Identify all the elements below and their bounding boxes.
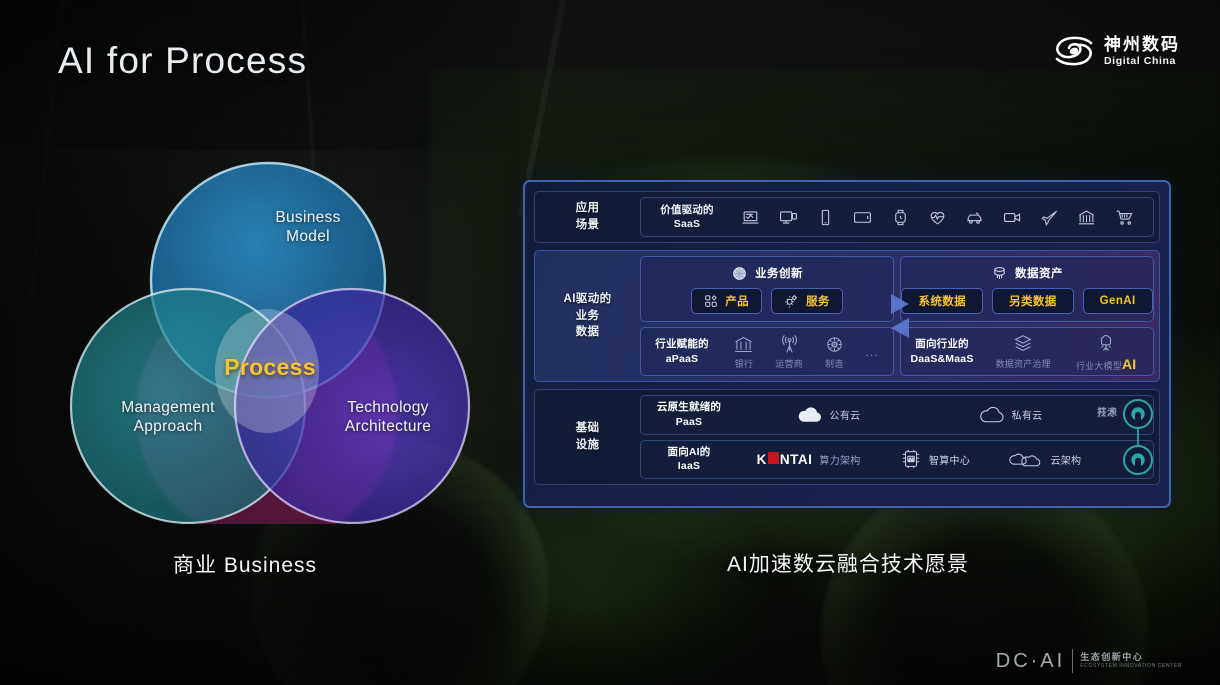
video-camera-icon[interactable]	[1003, 208, 1022, 227]
footer-center-cn: 生态创新中心	[1080, 652, 1182, 662]
row-cloud-native-paas[interactable]: 云原生就绪的 PaaS 公有云 私有云 开源	[640, 395, 1154, 435]
laptop-icon[interactable]	[741, 208, 760, 227]
bank-icon	[733, 334, 754, 355]
data-assets-pills: 系统数据 另类数据 GenAI	[901, 288, 1152, 314]
footer-center-en: ECOSYSTEM INNOVATION CENTER	[1080, 664, 1182, 670]
tablet-icon[interactable]	[853, 208, 872, 227]
item-ai-computing-center-label: 智算中心	[929, 452, 970, 467]
item-computing-power[interactable]: KNTAI 算力架构	[757, 452, 861, 467]
shopping-cart-icon[interactable]	[1115, 208, 1134, 227]
pill-product-label: 产品	[725, 293, 749, 309]
openeuler-badge-opensource[interactable]	[1123, 399, 1153, 429]
footer-dcai-mark: DC·AI	[996, 650, 1065, 673]
pill-service-label: 服务	[806, 293, 830, 309]
architecture-panel: 应用 场景 价值驱动的 SaaS	[523, 180, 1171, 508]
pill-alternative-data-label: 另类数据	[1009, 293, 1057, 309]
item-manufacturing-label: 制造	[825, 357, 843, 370]
item-cloud-architecture-label: 云架构	[1050, 452, 1081, 467]
card-title-value-driven-saas: 价值驱动的 SaaS	[651, 203, 723, 231]
brain-network-icon	[1095, 332, 1117, 354]
item-private-cloud[interactable]: 私有云	[978, 405, 1043, 425]
band-label-ai-driven-business-data: AI驱动的 业务 数据	[535, 251, 640, 381]
caption-tech-vision: AI加速数云融合技术愿景	[727, 548, 969, 578]
item-industry-large-model[interactable]: 行业大模型AI	[1076, 332, 1136, 372]
band-label-infrastructure: 基础 设施	[535, 390, 640, 484]
database-icon	[991, 265, 1008, 282]
item-ai-computing-center[interactable]: AI 智算中心	[900, 448, 970, 470]
item-data-governance[interactable]: 数据资产治理	[996, 333, 1051, 370]
pill-system-data[interactable]: 系统数据	[901, 288, 983, 314]
item-private-cloud-label: 私有云	[1012, 407, 1043, 422]
openeuler-badge-technology[interactable]	[1123, 445, 1153, 475]
item-telecom[interactable]: 运营商	[775, 334, 803, 370]
kuntai-logo-text: KNTAI	[757, 452, 813, 467]
openeuler-icon	[1129, 451, 1147, 469]
smartwatch-icon[interactable]	[891, 208, 910, 227]
brand-logo: 神州数码 Digital China	[1053, 34, 1180, 68]
blocks-icon	[704, 294, 718, 308]
data-layers-icon	[1012, 333, 1034, 355]
business-innovation-pills: 产品 服务	[691, 288, 843, 314]
box-data-assets[interactable]: 数据资产 系统数据 另类数据 GenAI	[900, 256, 1154, 322]
column-data-assets: 数据资产 系统数据 另类数据 GenAI	[900, 256, 1154, 376]
industry-apaas-title: 行业赋能的 aPaaS	[641, 337, 723, 366]
brand-name-cn: 神州数码	[1104, 36, 1180, 53]
box-business-innovation[interactable]: 业务创新 产品 服务	[640, 256, 894, 322]
footer-watermark: DC·AI 生态创新中心 ECOSYSTEM INNOVATION CENTER	[996, 649, 1182, 673]
multi-cloud-icon	[1009, 449, 1043, 469]
paas-title: 云原生就绪的 PaaS	[641, 400, 737, 429]
page-title: AI for Process	[58, 40, 307, 82]
airplane-icon[interactable]	[1040, 208, 1059, 227]
item-industry-large-model-label: 行业大模型AI	[1076, 356, 1136, 372]
iaas-title: 面向AI的 IaaS	[641, 445, 737, 474]
industry-apaas-items: 银行 运营商 制造 ...	[723, 334, 893, 370]
box-industry-daas-maas[interactable]: 面向行业的 DaaS&MaaS 数据资产治理	[900, 327, 1154, 376]
business-innovation-title: 业务创新	[755, 265, 803, 281]
business-innovation-header: 业务创新	[731, 265, 803, 282]
row-ai-iaas[interactable]: 面向AI的 IaaS KNTAI 算力架构	[640, 440, 1154, 480]
sphere-cube-icon	[731, 265, 748, 282]
technology-label: 技术	[1097, 404, 1117, 419]
swirl-logo-icon	[1053, 34, 1095, 68]
ai-server-icon: AI	[900, 448, 922, 470]
venn-svg	[60, 158, 480, 524]
brand-name-en: Digital China	[1104, 56, 1180, 67]
heartbeat-icon[interactable]	[928, 208, 947, 227]
data-assets-title: 数据资产	[1015, 265, 1063, 281]
paas-items: 公有云 私有云	[737, 405, 1153, 425]
box-industry-apaas[interactable]: 行业赋能的 aPaaS 银行 运营商	[640, 327, 894, 376]
kuntai-logo: KNTAI	[757, 452, 813, 467]
pill-system-data-label: 系统数据	[918, 293, 966, 309]
item-cloud-architecture[interactable]: 云架构	[1009, 449, 1081, 469]
item-banking-label: 银行	[735, 357, 753, 370]
pill-genai[interactable]: GenAI	[1083, 288, 1153, 314]
iaas-items: KNTAI 算力架构 AI 智算中心	[737, 448, 1153, 470]
item-manufacturing[interactable]: 制造	[824, 334, 845, 370]
filled-cloud-icon	[796, 405, 823, 425]
bank-icon[interactable]	[1077, 208, 1096, 227]
band-ai-driven-business-data: AI驱动的 业务 数据 业务创新	[534, 250, 1160, 382]
item-data-governance-label: 数据资产治理	[996, 357, 1051, 370]
item-banking[interactable]: 银行	[733, 334, 754, 370]
pill-service[interactable]: 服务	[771, 288, 843, 314]
footer-divider	[1072, 649, 1073, 673]
card-value-driven-saas[interactable]: 价值驱动的 SaaS	[640, 197, 1154, 237]
band-application-scenarios: 应用 场景 价值驱动的 SaaS	[534, 191, 1160, 243]
svg-text:AI: AI	[908, 457, 914, 463]
item-telecom-label: 运营商	[775, 357, 803, 370]
column-business-innovation: 业务创新 产品 服务	[640, 256, 894, 376]
band-label-application-scenarios: 应用 场景	[535, 192, 640, 242]
openeuler-icon	[1129, 405, 1147, 423]
more-industries-ellipsis: ...	[866, 345, 879, 359]
outline-cloud-icon	[978, 405, 1005, 425]
pill-alternative-data[interactable]: 另类数据	[992, 288, 1074, 314]
band-infrastructure: 基础 设施 云原生就绪的 PaaS 公有云	[534, 389, 1160, 485]
smartphone-icon[interactable]	[816, 208, 835, 227]
item-public-cloud[interactable]: 公有云	[796, 405, 861, 425]
item-computing-power-label: 算力架构	[819, 452, 860, 467]
manufacturing-gear-icon	[824, 334, 845, 355]
caption-business: 商业 Business	[173, 549, 317, 579]
industry-daas-maas-items: 数据资产治理 行业大模型AI	[983, 332, 1153, 372]
gears-icon	[784, 293, 799, 308]
pill-genai-label: GenAI	[1100, 295, 1136, 307]
desktop-monitor-icon[interactable]	[779, 208, 798, 227]
antenna-icon	[779, 334, 800, 355]
application-icon-row	[732, 208, 1143, 227]
pill-product[interactable]: 产品	[691, 288, 762, 314]
item-public-cloud-label: 公有云	[830, 407, 861, 422]
industry-daas-maas-title: 面向行业的 DaaS&MaaS	[901, 337, 983, 366]
venn-diagram: Business Model Management Approach Techn…	[60, 158, 480, 524]
data-assets-header: 数据资产	[991, 265, 1063, 282]
car-icon[interactable]	[965, 208, 984, 227]
